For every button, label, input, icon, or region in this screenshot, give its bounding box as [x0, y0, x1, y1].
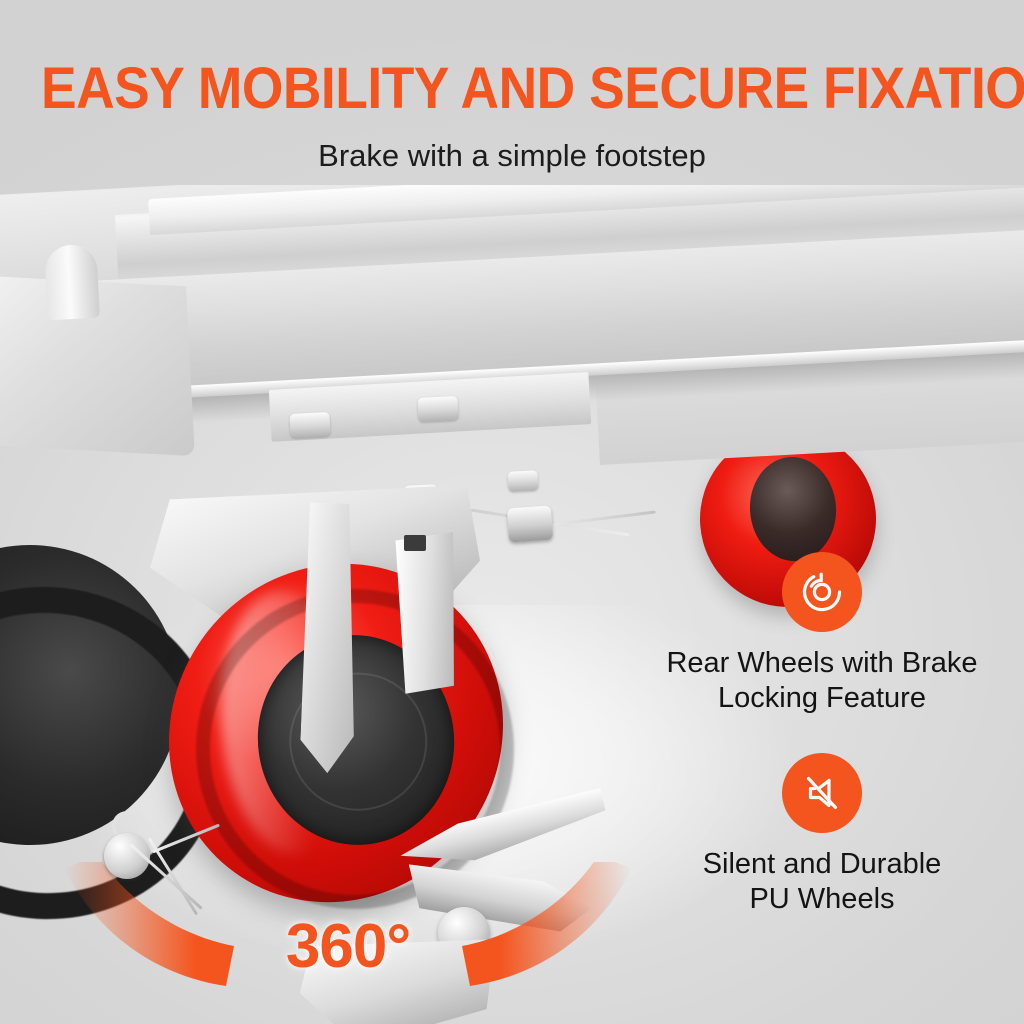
feature-line: Silent and Durable [632, 847, 1012, 882]
page-subtitle: Brake with a simple footstep [0, 140, 1024, 171]
page-title: EASY MOBILITY AND SECURE FIXATION [41, 60, 983, 118]
brake-cam-notch [404, 535, 426, 551]
feature-line: Rear Wheels with Brake [632, 646, 1012, 681]
feature-line: PU Wheels [632, 882, 1012, 917]
hex-bolt [507, 470, 538, 492]
hex-bolt [417, 396, 458, 422]
brake-disc-icon [782, 552, 862, 632]
feature-text-brake: Rear Wheels with Brake Locking Feature [620, 646, 1024, 717]
mute-speaker-icon [782, 753, 862, 833]
rotation-degree-label: 360° [58, 916, 638, 978]
hex-bolt [289, 412, 330, 438]
feature-item-silent: Silent and Durable PU Wheels [620, 753, 1024, 918]
cart-handle-stub [44, 244, 100, 321]
axle-hex-bolt [507, 506, 553, 543]
feature-line: Locking Feature [632, 681, 1012, 716]
brake-cam-plate [395, 532, 459, 694]
product-feature-banner: EASY MOBILITY AND SECURE FIXATION Brake … [0, 0, 1024, 1024]
feature-item-brake: Rear Wheels with Brake Locking Feature [620, 552, 1024, 717]
feature-text-silent: Silent and Durable PU Wheels [620, 847, 1024, 918]
feature-list: Rear Wheels with Brake Locking Feature S… [620, 552, 1024, 954]
cotter-wire [548, 510, 656, 526]
